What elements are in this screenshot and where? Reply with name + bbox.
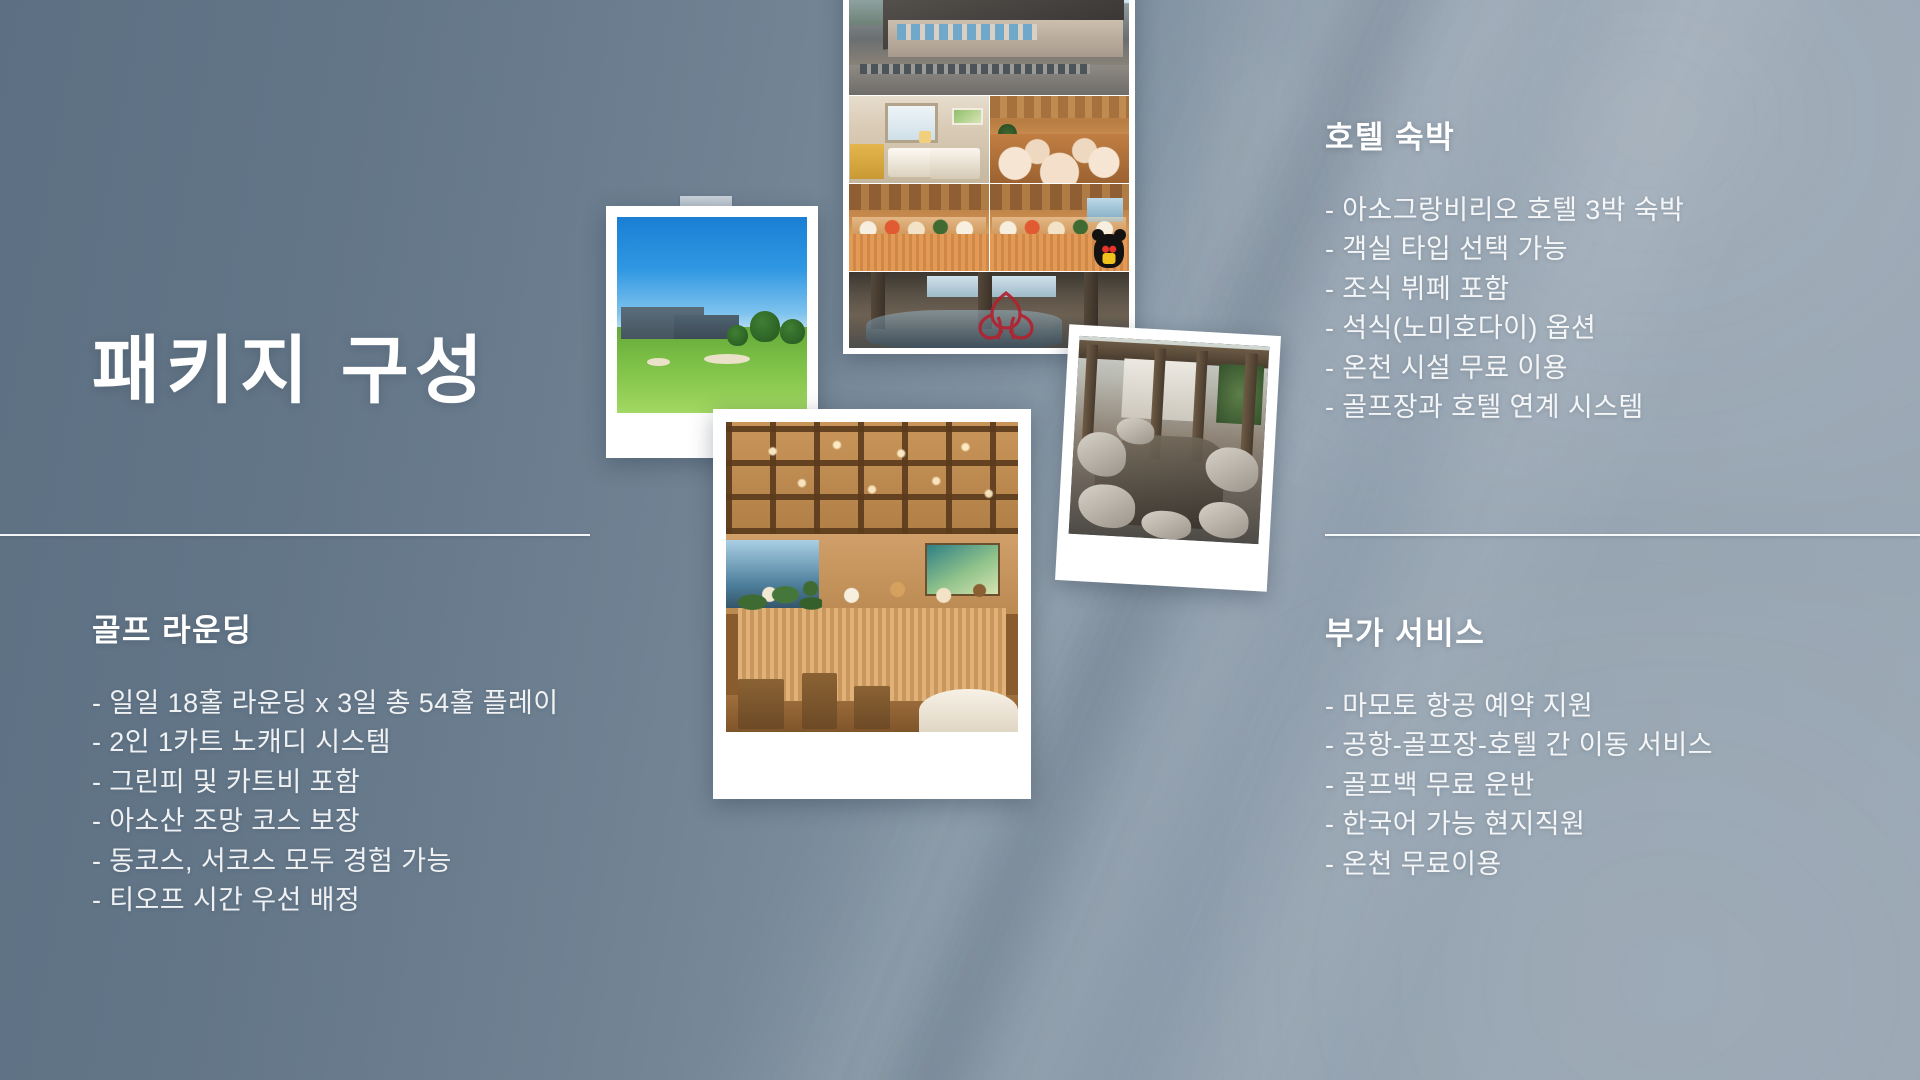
hotel-exterior-image <box>849 0 1129 95</box>
guest-room-image <box>849 96 989 183</box>
list-item: - 온천 시설 무료 이용 <box>1325 349 1684 388</box>
section-golf-list: - 일일 18홀 라운딩 x 3일 총 54홀 플레이 - 2인 1카트 노캐디… <box>92 684 558 920</box>
list-item: - 석식(노미호다이) 옵션 <box>1325 309 1684 348</box>
list-item: - 2인 1카트 노캐디 시스템 <box>92 723 558 762</box>
golf-course-photo <box>606 206 818 458</box>
section-golf: 골프 라운딩 - 일일 18홀 라운딩 x 3일 총 54홀 플레이 - 2인 … <box>92 605 558 920</box>
list-item: - 그린피 및 카트비 포함 <box>92 763 558 802</box>
hotel-logo-watermark <box>974 287 1038 348</box>
section-extra-services: 부가 서비스 - 마모토 항공 예약 지원 - 공항-골프장-호텔 간 이동 서… <box>1325 608 1713 884</box>
section-extra-heading: 부가 서비스 <box>1325 608 1713 653</box>
list-item: - 동코스, 서코스 모두 경험 가능 <box>92 842 558 881</box>
slide-root: 패키지 구성 <box>0 0 1920 1080</box>
buffet-right-image <box>990 184 1130 271</box>
section-hotel-list: - 아소그랑비리오 호텔 3박 숙박 - 객실 타입 선택 가능 - 조식 뷔페… <box>1325 191 1684 427</box>
list-item: - 골프장과 호텔 연계 시스템 <box>1325 388 1684 427</box>
list-item: - 골프백 무료 운반 <box>1325 766 1713 805</box>
list-item: - 아소산 조망 코스 보장 <box>92 802 558 841</box>
dining-hall-image <box>990 96 1130 183</box>
list-item: - 아소그랑비리오 호텔 3박 숙박 <box>1325 191 1684 230</box>
list-item: - 공항-골프장-호텔 간 이동 서비스 <box>1325 726 1713 765</box>
buffet-left-image <box>849 184 989 271</box>
section-golf-heading: 골프 라운딩 <box>92 605 558 650</box>
banquet-hall-photo <box>713 409 1031 799</box>
list-item: - 티오프 시간 우선 배정 <box>92 881 558 920</box>
page-title: 패키지 구성 <box>92 330 489 411</box>
list-item: - 일일 18홀 라운딩 x 3일 총 54홀 플레이 <box>92 684 558 723</box>
photo-tape <box>680 196 732 216</box>
list-item: - 온천 무료이용 <box>1325 845 1713 884</box>
light-streak-e <box>551 40 1335 1080</box>
onsen-photo <box>1055 324 1281 591</box>
divider-left <box>0 534 590 536</box>
list-item: - 조식 뷔페 포함 <box>1325 270 1684 309</box>
section-hotel-heading: 호텔 숙박 <box>1325 112 1684 157</box>
list-item: - 객실 타입 선택 가능 <box>1325 230 1684 269</box>
hotel-collage-photo <box>843 0 1135 354</box>
section-extra-list: - 마모토 항공 예약 지원 - 공항-골프장-호텔 간 이동 서비스 - 골프… <box>1325 687 1713 884</box>
divider-right <box>1325 534 1920 536</box>
list-item: - 마모토 항공 예약 지원 <box>1325 687 1713 726</box>
section-hotel: 호텔 숙박 - 아소그랑비리오 호텔 3박 숙박 - 객실 타입 선택 가능 -… <box>1325 112 1684 427</box>
list-item: - 한국어 가능 현지직원 <box>1325 805 1713 844</box>
indoor-onsen-image <box>849 272 1129 348</box>
kumamon-mascot-icon <box>1094 234 1124 268</box>
